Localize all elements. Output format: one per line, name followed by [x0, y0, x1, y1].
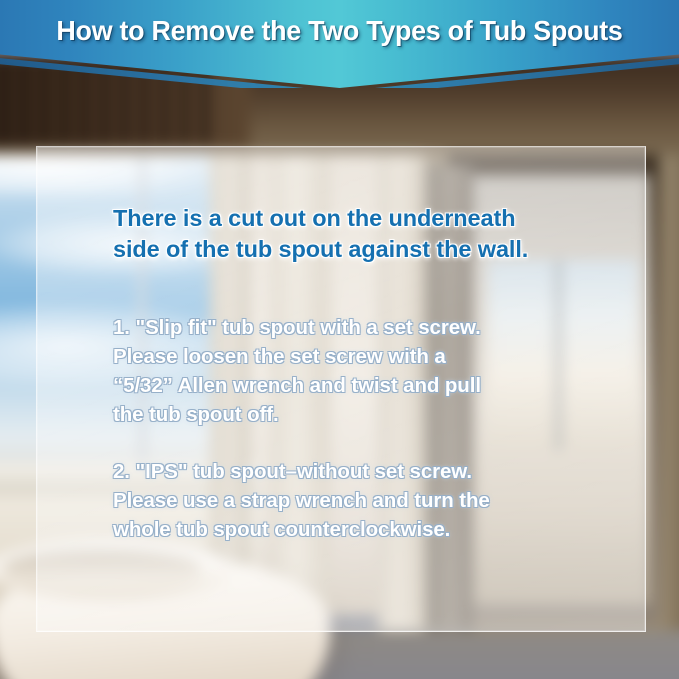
- header-banner: How to Remove the Two Types of Tub Spout…: [0, 0, 679, 88]
- instruction-paragraph-ips: 2. "IPS" tub spout–without set screw. Pl…: [113, 457, 633, 544]
- page-title: How to Remove the Two Types of Tub Spout…: [14, 0, 666, 62]
- instruction-paragraph-slip-fit: 1. "Slip fit" tub spout with a set screw…: [113, 313, 633, 429]
- content-panel: There is a cut out on the underneath sid…: [36, 146, 646, 632]
- infographic-image: There is a cut out on the underneath sid…: [0, 0, 679, 679]
- panel-heading: There is a cut out on the underneath sid…: [113, 203, 633, 265]
- content-panel-inner: There is a cut out on the underneath sid…: [113, 203, 633, 544]
- background-door-jamb: [660, 75, 679, 655]
